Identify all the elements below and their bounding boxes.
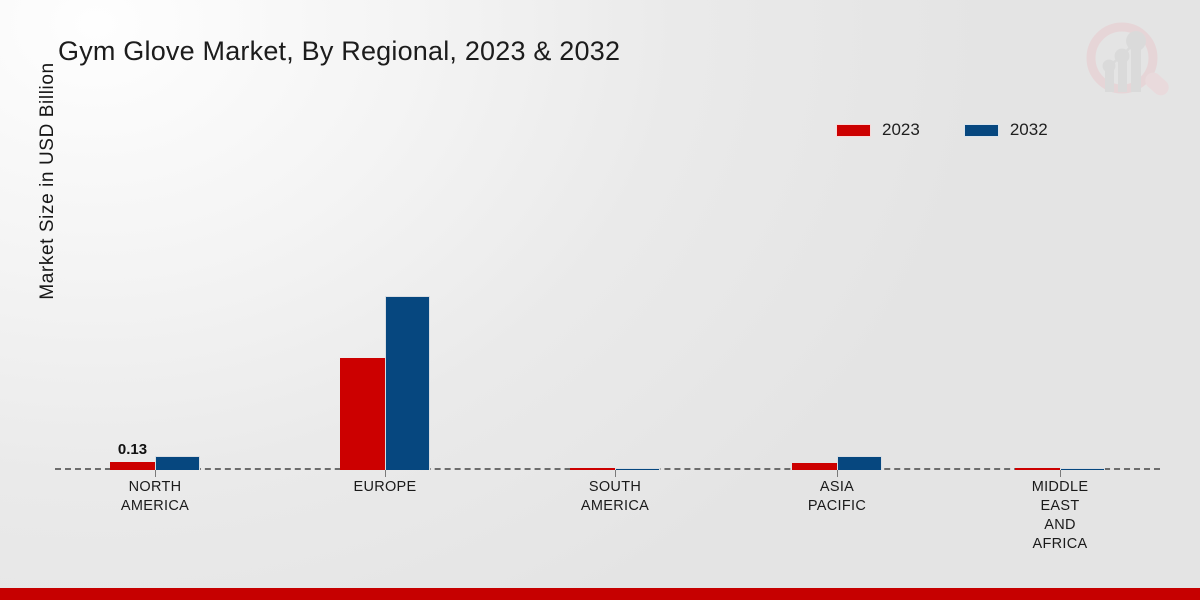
bars-north-america — [110, 140, 200, 470]
category-label-line-2: AMERICA — [535, 497, 695, 516]
bar-south-america-2032[interactable] — [615, 468, 660, 470]
bar-north-america-2032[interactable] — [155, 456, 200, 470]
bars-south-america — [570, 140, 660, 470]
legend-swatch-2032 — [964, 124, 999, 137]
bar-group-europe: EUROPE — [340, 140, 430, 470]
x-tick-asia-pacific — [837, 470, 838, 477]
category-label-asia-pacific: ASIA PACIFIC — [757, 478, 917, 516]
category-label-line-1: MIDDLE — [980, 478, 1140, 497]
category-label-line-1: NORTH — [75, 478, 235, 497]
category-label-europe: EUROPE — [305, 478, 465, 497]
legend-item-2032[interactable]: 2032 — [964, 120, 1048, 140]
bars-middle-east-and-africa — [1015, 140, 1105, 470]
bar-value-north-america-2023: 0.13 — [110, 441, 155, 458]
chart-container: Gym Glove Market, By Regional, 2023 & 20… — [0, 0, 1200, 600]
category-label-line-1: ASIA — [757, 478, 917, 497]
watermark-logo-icon — [1072, 14, 1178, 110]
bar-asia-pacific-2023[interactable] — [792, 463, 837, 470]
x-tick-middle-east-and-africa — [1060, 470, 1061, 477]
bars-asia-pacific — [792, 140, 882, 470]
bar-asia-pacific-2032[interactable] — [837, 456, 882, 470]
bar-group-asia-pacific: ASIA PACIFIC — [792, 140, 882, 470]
category-label-line-2: PACIFIC — [757, 497, 917, 516]
category-label-line-3: AND — [980, 516, 1140, 535]
category-label-north-america: NORTH AMERICA — [75, 478, 235, 516]
x-tick-europe — [385, 470, 386, 477]
bar-europe-2032[interactable] — [385, 296, 430, 470]
category-label-line-1: EUROPE — [305, 478, 465, 497]
legend-label-2023: 2023 — [882, 120, 920, 140]
x-tick-north-america — [155, 470, 156, 477]
bar-south-america-2023[interactable] — [570, 468, 615, 470]
category-label-line-2: EAST — [980, 497, 1140, 516]
chart-title: Gym Glove Market, By Regional, 2023 & 20… — [58, 36, 620, 67]
legend-item-2023[interactable]: 2023 — [836, 120, 920, 140]
bar-group-north-america: 0.13 NORTH AMERICA — [110, 140, 200, 470]
plot-area: 0.13 NORTH AMERICA EUROPE — [55, 140, 1160, 470]
footer-accent-bar — [0, 588, 1200, 600]
bar-middle-east-and-africa-2032[interactable] — [1060, 468, 1105, 470]
bar-middle-east-and-africa-2023[interactable] — [1015, 468, 1060, 470]
bar-europe-2023[interactable] — [340, 358, 385, 470]
bar-north-america-2023[interactable] — [110, 462, 155, 470]
category-label-line-1: SOUTH — [535, 478, 695, 497]
category-label-middle-east-and-africa: MIDDLE EAST AND AFRICA — [980, 478, 1140, 554]
chart-legend: 2023 2032 — [836, 120, 1048, 140]
bars-europe — [340, 140, 430, 470]
bar-group-middle-east-and-africa: MIDDLE EAST AND AFRICA — [1015, 140, 1105, 470]
bar-group-south-america: SOUTH AMERICA — [570, 140, 660, 470]
category-label-south-america: SOUTH AMERICA — [535, 478, 695, 516]
legend-label-2032: 2032 — [1010, 120, 1048, 140]
x-tick-south-america — [615, 470, 616, 477]
legend-swatch-2023 — [836, 124, 871, 137]
category-label-line-2: AMERICA — [75, 497, 235, 516]
category-label-line-4: AFRICA — [980, 535, 1140, 554]
